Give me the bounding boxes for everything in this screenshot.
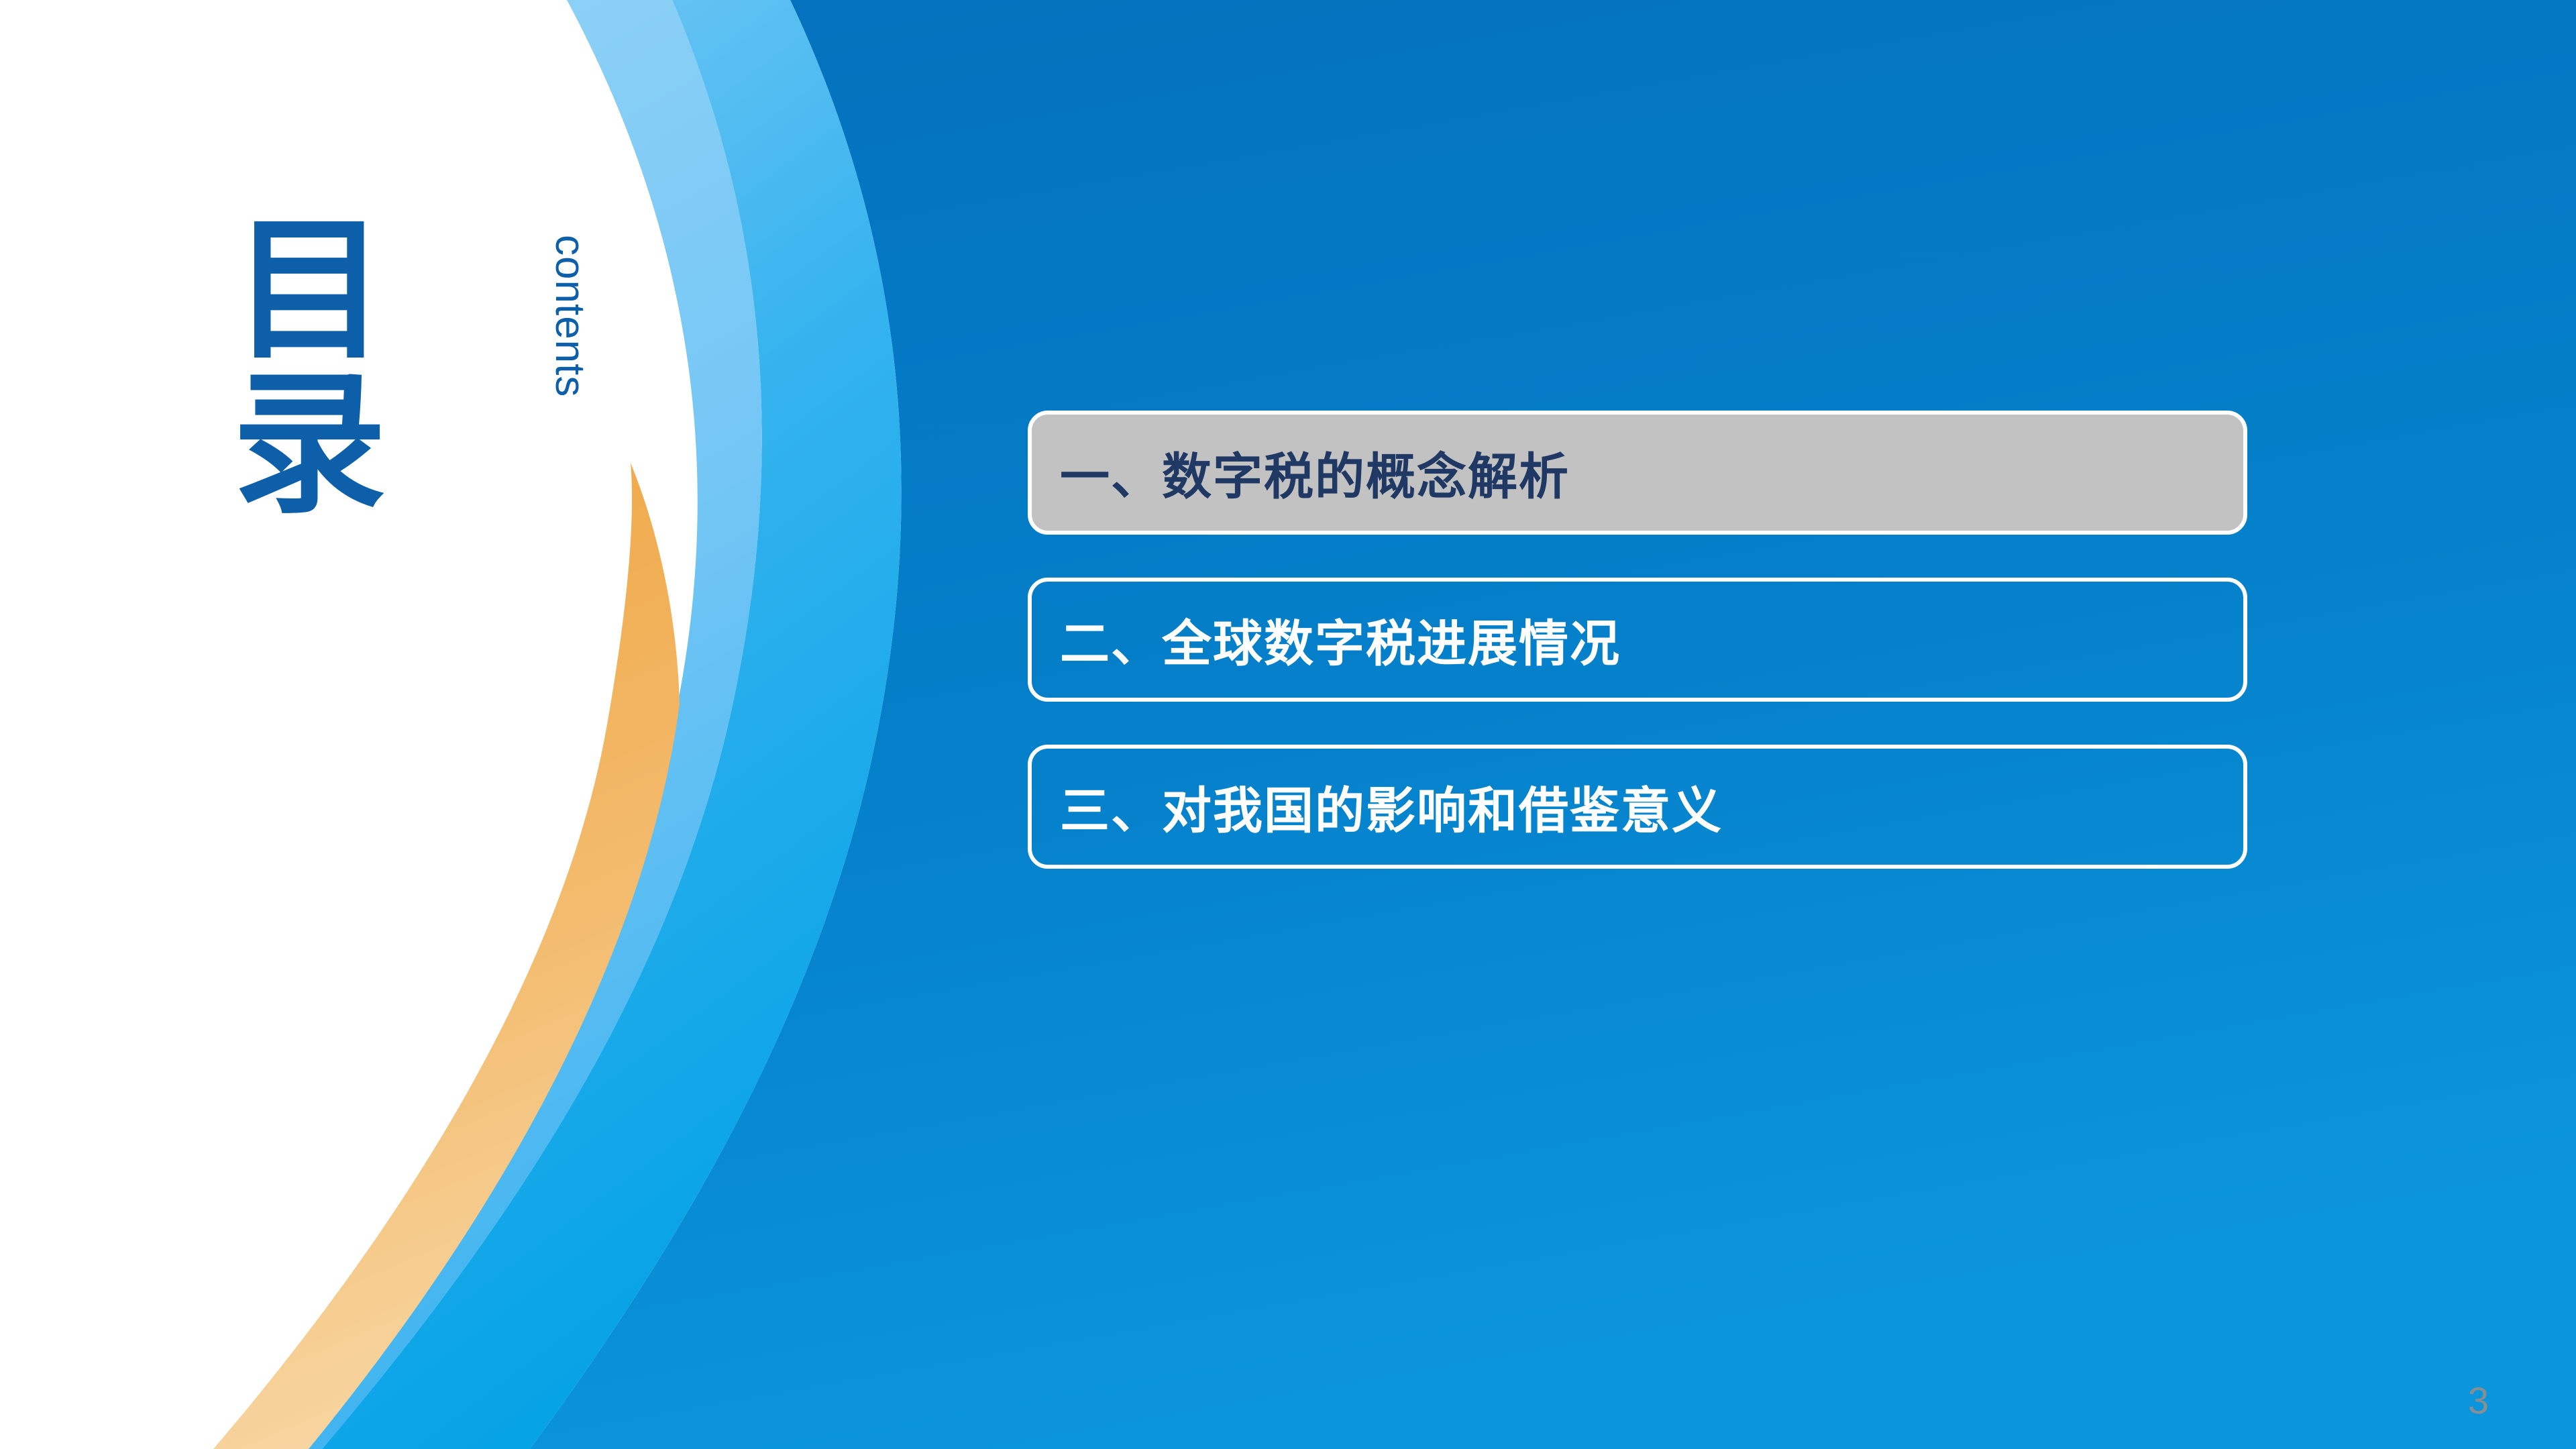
page-title-cn: 目录 [221,208,370,523]
contents-item-3[interactable]: 三、对我国的影响和借鉴意义 [1028,745,2247,869]
contents-item-2[interactable]: 二、全球数字税进展情况 [1028,578,2247,702]
contents-list: 一、数字税的概念解析 二、全球数字税进展情况 三、对我国的影响和借鉴意义 [1028,411,2247,912]
slide-canvas: 目录 contents 一、数字税的概念解析 二、全球数字税进展情况 三、对我国… [0,0,2576,1449]
page-number: 3 [2468,1379,2489,1422]
contents-item-2-label: 二、全球数字税进展情况 [1060,604,1621,676]
page-title: 目录 contents [201,201,577,577]
contents-item-1-label: 一、数字税的概念解析 [1060,437,1570,508]
page-title-en: contents [546,235,594,397]
contents-item-1[interactable]: 一、数字税的概念解析 [1028,411,2247,535]
contents-item-3-label: 三、对我国的影响和借鉴意义 [1060,771,1723,843]
